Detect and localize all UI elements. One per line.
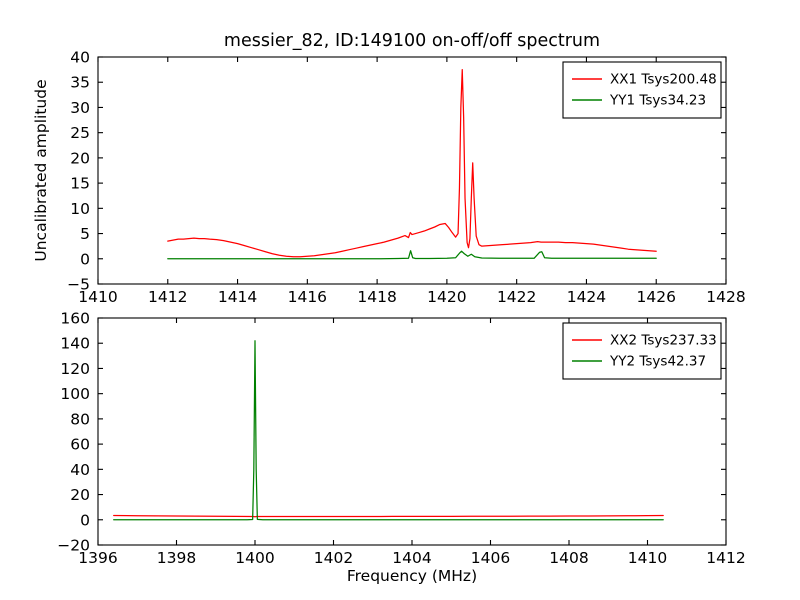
legend-label-top-1: YY1 Tsys34.23 xyxy=(609,93,706,109)
xticklabel-top-9: 1428 xyxy=(706,288,745,306)
xticklabel-bottom-5: 1406 xyxy=(471,549,510,567)
yticklabel-bottom-9: 160 xyxy=(60,310,90,328)
ylabel-top: Uncalibrated amplitude xyxy=(32,79,50,261)
figure-canvas: 1410141214141416141814201422142414261428… xyxy=(0,0,800,600)
xticklabel-bottom-4: 1404 xyxy=(392,549,431,567)
legend-top: XX1 Tsys200.48YY1 Tsys34.23 xyxy=(563,62,721,118)
xticklabel-bottom-6: 1408 xyxy=(549,549,588,567)
yticklabel-bottom-3: 40 xyxy=(70,461,90,479)
yticklabel-top-7: 30 xyxy=(70,99,90,117)
yticklabel-top-4: 15 xyxy=(70,175,90,193)
xticklabel-top-2: 1414 xyxy=(218,288,257,306)
axes-top: 1410141214141416141814201422142414261428… xyxy=(67,49,746,307)
legend-box-top xyxy=(563,62,721,118)
xlabel-bottom: Frequency (MHz) xyxy=(347,567,477,585)
yticklabel-top-5: 20 xyxy=(70,149,90,167)
yticklabel-top-3: 10 xyxy=(70,200,90,218)
xticklabel-bottom-1: 1398 xyxy=(157,549,196,567)
yticklabel-bottom-6: 100 xyxy=(60,385,90,403)
legend-bottom: XX2 Tsys237.33YY2 Tsys42.37 xyxy=(563,323,721,379)
xticklabel-bottom-3: 1402 xyxy=(314,549,353,567)
legend-box-bottom xyxy=(563,323,721,379)
xticklabel-bottom-2: 1400 xyxy=(235,549,274,567)
legend-label-bottom-1: YY2 Tsys42.37 xyxy=(609,354,706,370)
xticklabel-top-6: 1422 xyxy=(497,288,536,306)
yticklabel-bottom-0: −20 xyxy=(57,537,90,555)
yticklabel-bottom-8: 140 xyxy=(60,335,90,353)
xticklabel-top-7: 1424 xyxy=(567,288,606,306)
yticklabel-bottom-1: 0 xyxy=(80,511,90,529)
legend-label-top-0: XX1 Tsys200.48 xyxy=(610,72,717,88)
figure-title: messier_82, ID:149100 on-off/off spectru… xyxy=(224,31,600,51)
xticklabel-bottom-7: 1410 xyxy=(628,549,667,567)
xticklabel-top-3: 1416 xyxy=(288,288,327,306)
legend-label-bottom-0: XX2 Tsys237.33 xyxy=(610,333,717,349)
xticklabel-top-8: 1426 xyxy=(636,288,675,306)
yticklabel-bottom-2: 20 xyxy=(70,486,90,504)
spectrum-figure: 1410141214141416141814201422142414261428… xyxy=(0,0,800,600)
xticklabel-bottom-8: 1412 xyxy=(706,549,745,567)
yticklabel-top-2: 5 xyxy=(80,225,90,243)
yticklabel-bottom-7: 120 xyxy=(60,360,90,378)
yticklabel-top-1: 0 xyxy=(80,250,90,268)
yticklabel-bottom-4: 60 xyxy=(70,436,90,454)
yticklabel-top-8: 35 xyxy=(70,74,90,92)
yticklabel-top-6: 25 xyxy=(70,124,90,142)
yticklabel-top-9: 40 xyxy=(70,49,90,67)
yticklabel-top-0: −5 xyxy=(67,276,90,294)
axes-bottom: 139613981400140214041406140814101412−200… xyxy=(57,310,745,568)
xticklabel-top-1: 1412 xyxy=(148,288,187,306)
xticklabel-top-5: 1420 xyxy=(427,288,466,306)
yticklabel-bottom-5: 80 xyxy=(70,410,90,428)
xticklabel-top-4: 1418 xyxy=(357,288,396,306)
